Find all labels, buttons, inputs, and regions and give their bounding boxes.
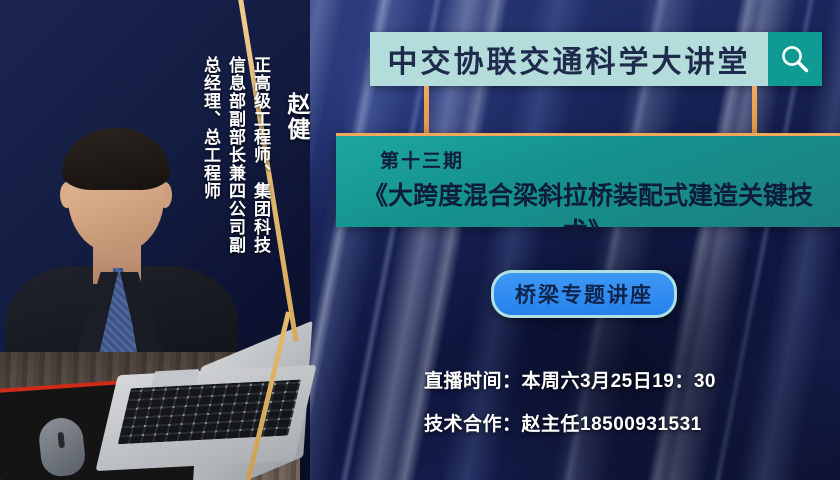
header-banner: 中交协联交通科学大讲堂 xyxy=(370,32,822,86)
program-title: 《大跨度混合梁斜拉桥装配式建造关键技术》 xyxy=(348,176,828,248)
search-button[interactable] xyxy=(768,32,822,86)
speaker-credential-1: 正高级工程师、集团科技 xyxy=(251,56,269,254)
category-pill[interactable]: 桥梁专题讲座 xyxy=(491,270,677,318)
banner-hanger-left xyxy=(424,86,429,134)
laptop-base xyxy=(95,365,316,471)
search-icon xyxy=(779,43,811,75)
speaker-name: 赵健 xyxy=(284,92,309,142)
program-title-band: 第十三期 《大跨度混合梁斜拉桥装配式建造关键技术》 xyxy=(336,133,840,227)
banner-hanger-right xyxy=(752,86,757,134)
contact-text: 技术合作：赵主任18500931531 xyxy=(424,409,702,436)
webinar-poster: 赵健 正高级工程师、集团科技 信息部副部长兼四公司副 总经理、总工程师 中交协联… xyxy=(0,0,840,480)
banner-title: 中交协联交通科学大讲堂 xyxy=(370,32,768,86)
live-time-text: 直播时间：本周六3月25日19：30 xyxy=(424,366,716,393)
episode-label: 第十三期 xyxy=(380,146,464,173)
laptop-keyboard xyxy=(118,380,301,445)
speaker-credential-3: 总经理、总工程师 xyxy=(201,56,219,200)
photo-hair xyxy=(62,128,170,190)
speaker-credential-2: 信息部副部长兼四公司副 xyxy=(226,56,244,254)
